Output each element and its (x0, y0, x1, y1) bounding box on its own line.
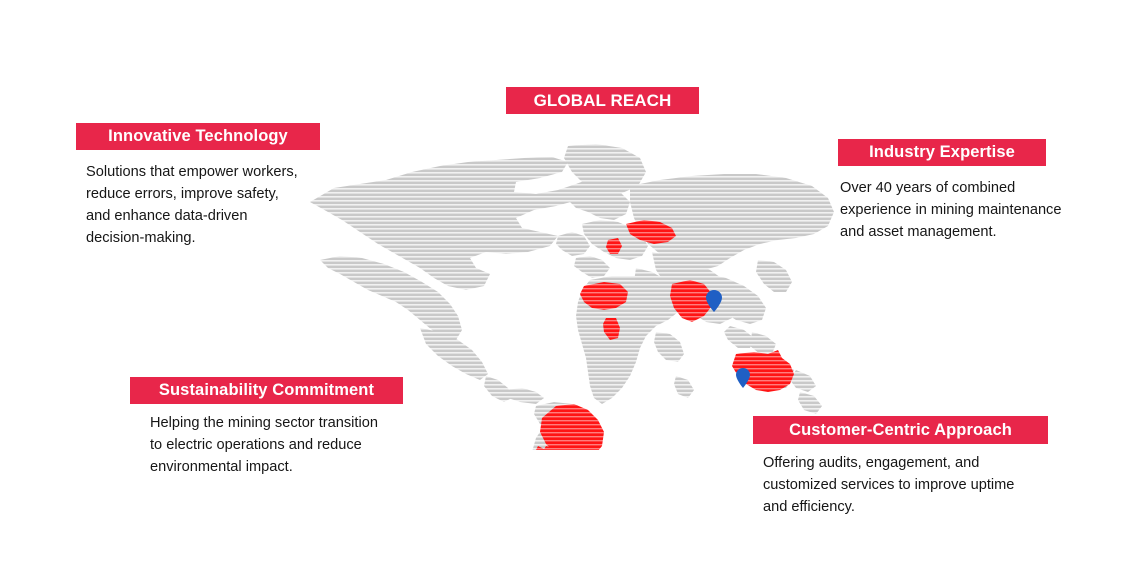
callout-body-sustainability-commitment: Helping the mining sector transition to … (150, 412, 400, 478)
callout-heading-label: Customer-Centric Approach (753, 421, 1048, 440)
callout-body-innovative-technology: Solutions that empower workers, reduce e… (86, 161, 321, 249)
callout-body-industry-expertise: Over 40 years of combined experience in … (840, 177, 1080, 243)
callout-heading-innovative-technology: Innovative Technology (76, 123, 320, 150)
callout-body-customer-centric-approach: Offering audits, engagement, and customi… (763, 452, 1038, 518)
callout-heading-label: Sustainability Commitment (130, 381, 403, 400)
callout-heading-label: Industry Expertise (838, 143, 1046, 162)
title-banner-label: GLOBAL REACH (506, 91, 699, 111)
global-reach-infographic: GLOBAL REACH Innovative Technology Solut… (0, 0, 1139, 562)
callout-heading-label: Innovative Technology (76, 127, 320, 146)
title-banner: GLOBAL REACH (506, 87, 699, 114)
callout-heading-sustainability-commitment: Sustainability Commitment (130, 377, 403, 404)
callout-heading-industry-expertise: Industry Expertise (838, 139, 1046, 166)
callout-heading-customer-centric-approach: Customer-Centric Approach (753, 416, 1048, 444)
